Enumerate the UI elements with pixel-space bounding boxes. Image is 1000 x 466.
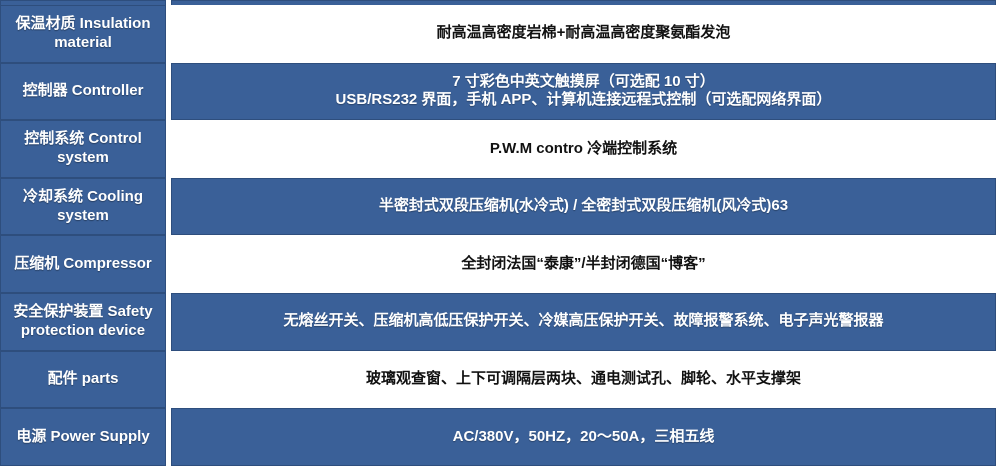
- value-lines: 7 寸彩色中英文触摸屏（可选配 10 寸）USB/RS232 界面，手机 APP…: [336, 73, 832, 111]
- row-value-insulation-material: 耐高温高密度岩棉+耐高温高密度聚氨酯发泡: [171, 5, 996, 63]
- value-line: 7 寸彩色中英文触摸屏（可选配 10 寸）: [336, 73, 832, 92]
- row-label-control-system: 控制系统 Control system: [0, 120, 166, 178]
- value-lines: 无熔丝开关、压缩机高低压保护开关、冷媒高压保护开关、故障报警系统、电子声光警报器: [283, 312, 883, 331]
- value-lines: 全封闭法国“泰康”/半封闭德国“博客”: [461, 255, 705, 274]
- table-row: 保温材质 Insulation material耐高温高密度岩棉+耐高温高密度聚…: [0, 5, 1000, 63]
- row-value-controller: 7 寸彩色中英文触摸屏（可选配 10 寸）USB/RS232 界面，手机 APP…: [171, 63, 996, 121]
- value-lines: 玻璃观查窗、上下可调隔层两块、通电测试孔、脚轮、水平支撑架: [366, 370, 801, 389]
- row-label-compressor: 压缩机 Compressor: [0, 235, 166, 293]
- table-row: 冷却系统 Cooling system半密封式双段压缩机(水冷式) / 全密封式…: [0, 178, 1000, 236]
- row-value-parts: 玻璃观查窗、上下可调隔层两块、通电测试孔、脚轮、水平支撑架: [171, 351, 996, 409]
- row-label-insulation-material: 保温材质 Insulation material: [0, 5, 166, 63]
- row-value-compressor: 全封闭法国“泰康”/半封闭德国“博客”: [171, 235, 996, 293]
- value-lines: AC/380V，50HZ，20～50A，三相五线: [453, 428, 715, 447]
- row-label-controller: 控制器 Controller: [0, 63, 166, 121]
- table-row: 电源 Power SupplyAC/380V，50HZ，20～50A，三相五线: [0, 408, 1000, 466]
- table-row: 控制器 Controller7 寸彩色中英文触摸屏（可选配 10 寸）USB/R…: [0, 63, 1000, 121]
- row-value-power-supply: AC/380V，50HZ，20～50A，三相五线: [171, 408, 996, 466]
- specification-table: 保温材质 Insulation material耐高温高密度岩棉+耐高温高密度聚…: [0, 0, 1000, 466]
- value-lines: P.W.M contro 冷端控制系统: [490, 140, 677, 159]
- value-line: 半密封式双段压缩机(水冷式) / 全密封式双段压缩机(风冷式)63: [379, 197, 788, 216]
- value-line: 玻璃观查窗、上下可调隔层两块、通电测试孔、脚轮、水平支撑架: [366, 370, 801, 389]
- row-value-control-system: P.W.M contro 冷端控制系统: [171, 120, 996, 178]
- table-row: 安全保护装置 Safety protection device无熔丝开关、压缩机…: [0, 293, 1000, 351]
- value-line: 全封闭法国“泰康”/半封闭德国“博客”: [461, 255, 705, 274]
- row-label-safety-protection-device: 安全保护装置 Safety protection device: [0, 293, 166, 351]
- value-line: P.W.M contro 冷端控制系统: [490, 140, 677, 159]
- value-lines: 半密封式双段压缩机(水冷式) / 全密封式双段压缩机(风冷式)63: [379, 197, 788, 216]
- value-line: 耐高温高密度岩棉+耐高温高密度聚氨酯发泡: [437, 24, 731, 43]
- table-row: 压缩机 Compressor全封闭法国“泰康”/半封闭德国“博客”: [0, 235, 1000, 293]
- table-row: 控制系统 Control systemP.W.M contro 冷端控制系统: [0, 120, 1000, 178]
- row-value-safety-protection-device: 无熔丝开关、压缩机高低压保护开关、冷媒高压保护开关、故障报警系统、电子声光警报器: [171, 293, 996, 351]
- row-value-cooling-system: 半密封式双段压缩机(水冷式) / 全密封式双段压缩机(风冷式)63: [171, 178, 996, 236]
- row-label-power-supply: 电源 Power Supply: [0, 408, 166, 466]
- row-label-cooling-system: 冷却系统 Cooling system: [0, 178, 166, 236]
- value-line: USB/RS232 界面，手机 APP、计算机连接远程式控制（可选配网络界面）: [336, 91, 832, 110]
- table-row: 配件 parts玻璃观查窗、上下可调隔层两块、通电测试孔、脚轮、水平支撑架: [0, 351, 1000, 409]
- row-label-parts: 配件 parts: [0, 351, 166, 409]
- value-line: 无熔丝开关、压缩机高低压保护开关、冷媒高压保护开关、故障报警系统、电子声光警报器: [283, 312, 883, 331]
- value-line: AC/380V，50HZ，20～50A，三相五线: [453, 428, 715, 447]
- value-lines: 耐高温高密度岩棉+耐高温高密度聚氨酯发泡: [437, 24, 731, 43]
